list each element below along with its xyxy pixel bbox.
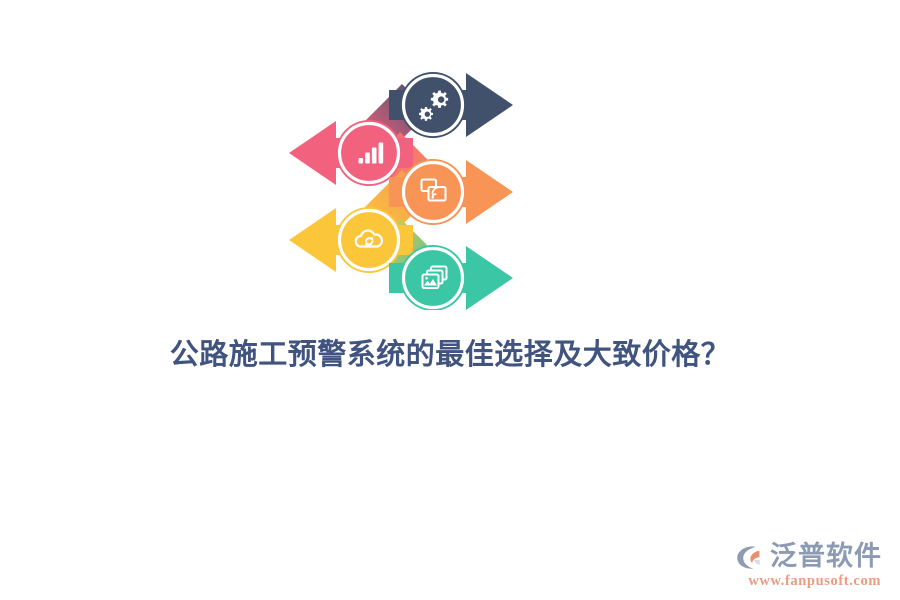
page-title: 公路施工预警系统的最佳选择及大致价格？	[0, 336, 900, 375]
brand-name: 泛普软件	[770, 543, 882, 570]
brand-logo-row: 泛普软件	[735, 542, 882, 572]
five-step-arrow-infographic	[281, 60, 521, 310]
brand-logo[interactable]: 泛普软件 www.fanpusoft.com	[735, 542, 882, 589]
brand-url: www.fanpusoft.com	[748, 574, 881, 589]
page-root: 公路施工预警系统的最佳选择及大致价格？ 泛普软件 www.fanpusoft.c…	[0, 0, 900, 600]
fanpu-swoosh-logo-icon	[735, 542, 765, 572]
